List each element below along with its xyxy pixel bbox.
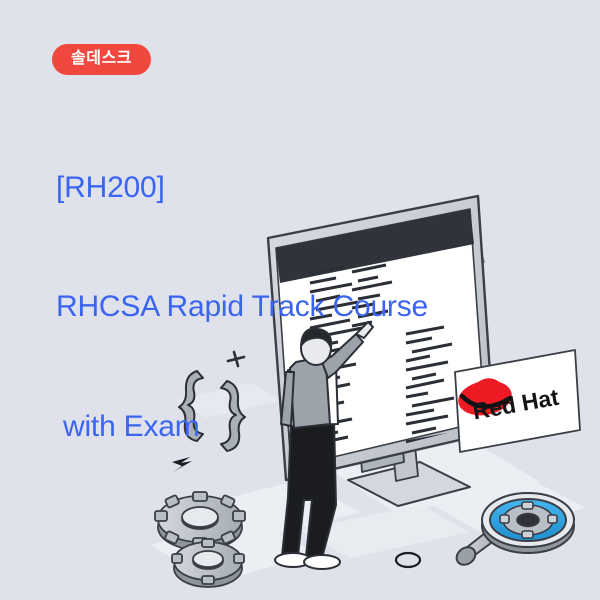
title-line-1: [RH200] — [56, 168, 428, 208]
ellipse-marker — [396, 553, 420, 567]
page-title: [RH200] RHCSA Rapid Track Course with Ex… — [56, 88, 428, 527]
brand-badge: 솔데스크 — [52, 44, 151, 75]
course-poster: Red Hat — [0, 0, 600, 600]
title-line-2: RHCSA Rapid Track Course — [56, 287, 428, 327]
title-line-3: with Exam — [56, 407, 428, 447]
